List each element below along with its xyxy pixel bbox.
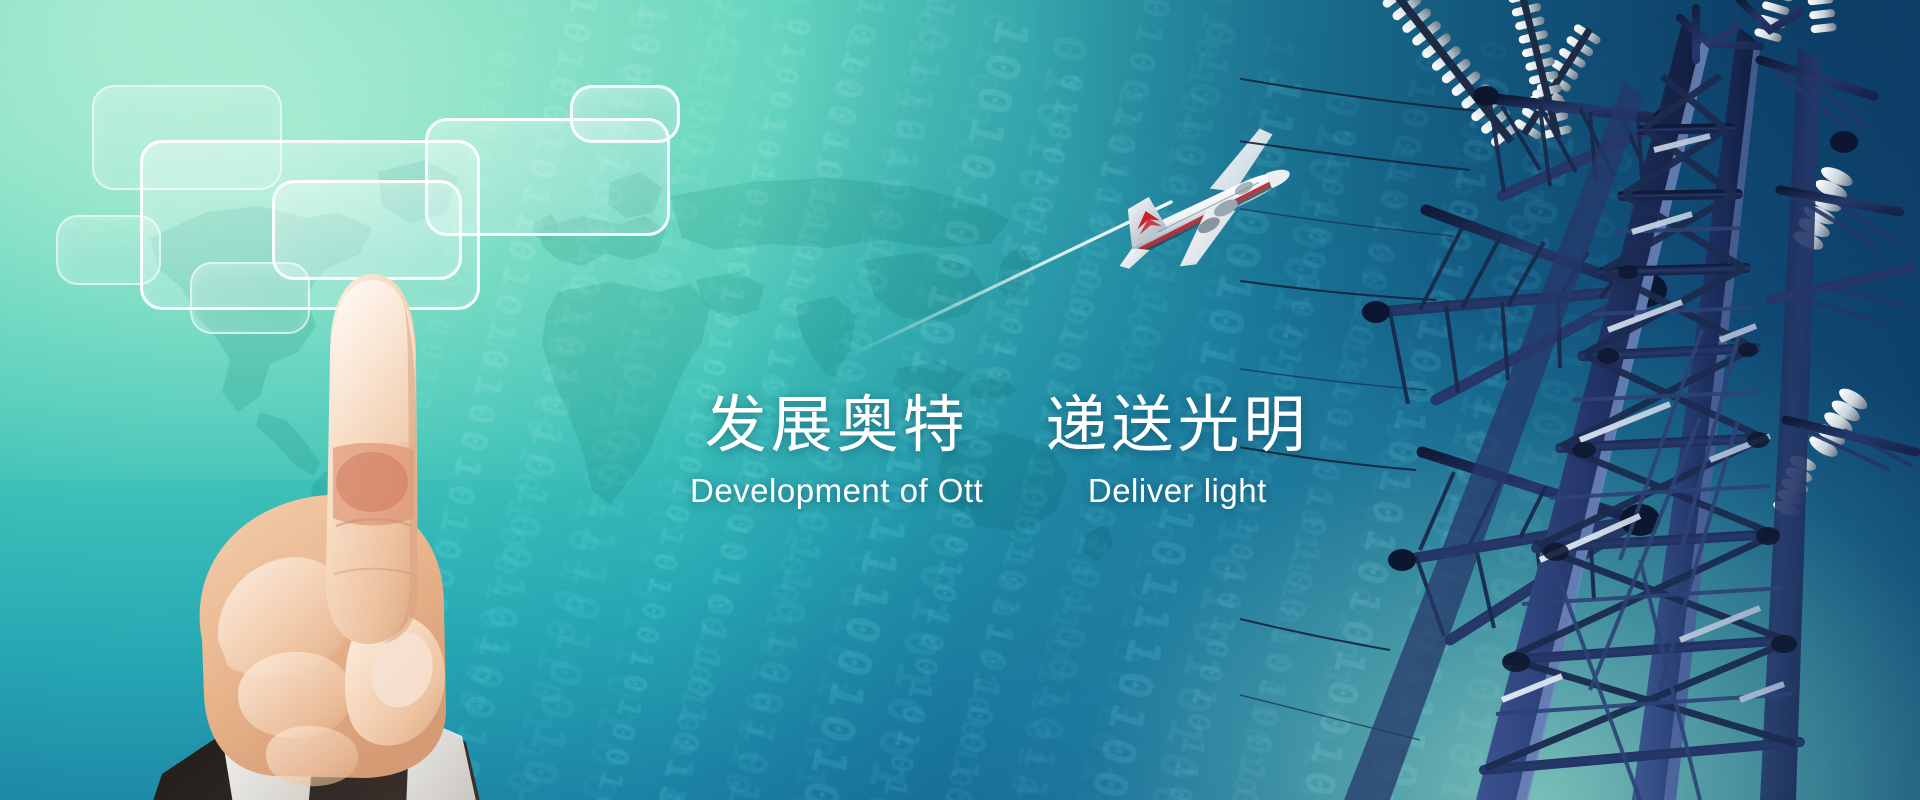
glass-panel-4: [570, 85, 680, 143]
power-transmission-tower-icon: [1240, 0, 1920, 800]
promotional-banner: 0101001011010010101010010110101010010100…: [0, 0, 1920, 800]
pointing-hand-icon: [110, 170, 630, 800]
